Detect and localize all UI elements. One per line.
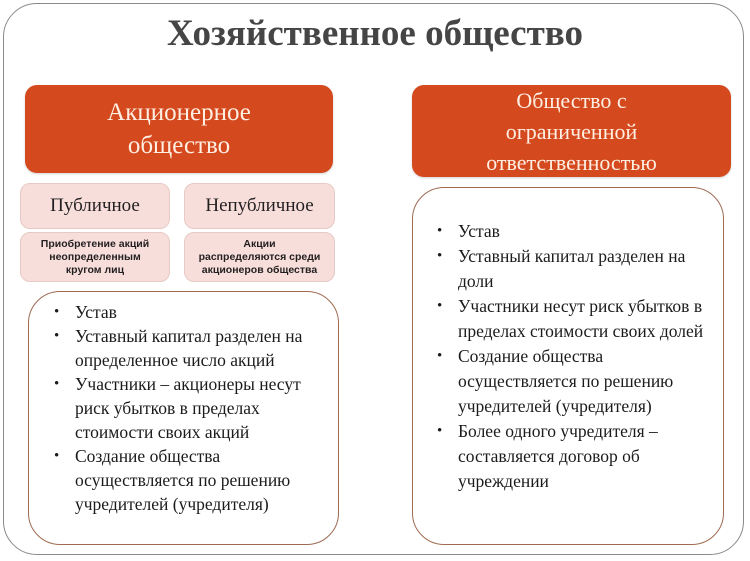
note-line: акционеров общества xyxy=(195,264,325,277)
list-item: Уставный капитал разделен на доли xyxy=(428,244,720,294)
list-item: Создание общества осуществляется по реше… xyxy=(428,344,720,419)
header-line: Общество с xyxy=(478,85,665,116)
list-item: Участники – акционеры несут риск убытков… xyxy=(45,372,335,444)
subtype-label: Публичное xyxy=(21,195,169,217)
header-line: Акционерное xyxy=(99,96,259,129)
note-line: Приобретение акций xyxy=(37,238,153,251)
header-line: ограниченной xyxy=(478,116,665,147)
features-list-limited-liability-company: Устав Уставный капитал разделен на доли … xyxy=(428,219,720,494)
header-box-joint-stock-company: Акционерное общество xyxy=(25,85,333,173)
header-line: общество xyxy=(99,129,259,162)
note-line: кругом лиц xyxy=(37,264,153,277)
slide-canvas: Хозяйственное общество Акционерное общес… xyxy=(0,0,750,561)
list-item: Участники несут риск убытков в пределах … xyxy=(428,294,720,344)
list-item: Более одного учредителя – составляется д… xyxy=(428,419,720,494)
subtype-box-public: Публичное xyxy=(20,183,170,229)
features-list-joint-stock-company: Устав Уставный капитал разделен на опред… xyxy=(45,300,335,516)
note-line: распределяются среди xyxy=(195,251,325,264)
subtype-note-non-public: Акции распределяются среди акционеров об… xyxy=(184,232,335,282)
list-item: Устав xyxy=(45,300,335,324)
list-item: Уставный капитал разделен на определенно… xyxy=(45,324,335,372)
note-line: Акции xyxy=(195,238,325,251)
subtype-box-non-public: Непубличное xyxy=(184,183,335,229)
subtype-note-public: Приобретение акций неопределенным кругом… xyxy=(20,232,170,282)
page-title: Хозяйственное общество xyxy=(0,12,750,56)
header-box-limited-liability-company: Общество с ограниченной ответственностью xyxy=(412,85,731,177)
list-item: Создание общества осуществляется по реше… xyxy=(45,444,335,516)
header-line: ответственностью xyxy=(478,147,665,178)
list-item: Устав xyxy=(428,219,720,244)
note-line: неопределенным xyxy=(37,251,153,264)
subtype-label: Непубличное xyxy=(185,195,334,217)
